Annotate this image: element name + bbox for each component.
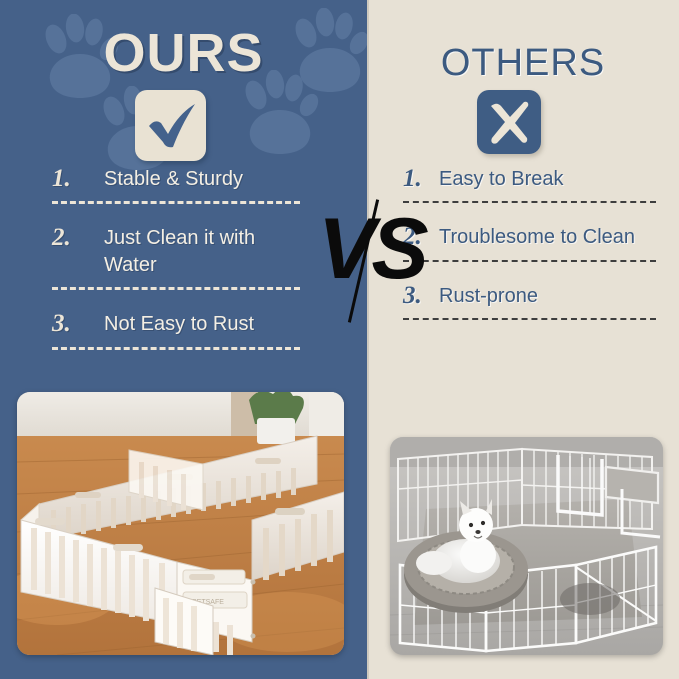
list-item-label: Stable & Sturdy	[104, 166, 243, 192]
list-item: 1. Stable & Sturdy	[52, 166, 302, 204]
ours-product-photo: PETSAFE	[17, 392, 344, 655]
others-product-photo	[390, 437, 663, 655]
list-item-number: 2.	[52, 225, 104, 251]
list-item-label: Troublesome to Clean	[439, 224, 635, 250]
list-item-label: Rust-prone	[439, 283, 538, 309]
list-item-number: 1.	[52, 166, 104, 192]
list-item-label: Not Easy to Rust	[104, 311, 254, 337]
ours-feature-list: 1. Stable & Sturdy 2. Just Clean it with…	[52, 166, 302, 350]
list-item-label: Easy to Break	[439, 166, 564, 192]
list-item-number: 1.	[403, 166, 439, 192]
list-divider	[403, 318, 656, 320]
versus-badge: VS	[318, 206, 418, 316]
panel-divider	[367, 0, 369, 679]
list-item-label: Just Clean it with Water	[104, 225, 302, 278]
others-title: OTHERS	[367, 44, 679, 82]
list-item: 2. Troublesome to Clean	[403, 224, 658, 261]
list-item: 2. Just Clean it with Water	[52, 225, 302, 290]
list-item: 1. Easy to Break	[403, 166, 658, 203]
x-icon	[477, 90, 541, 154]
list-item: 3. Rust-prone	[403, 283, 658, 320]
versus-label: VS	[318, 206, 418, 292]
ours-title: OURS	[0, 26, 367, 80]
list-item-number: 3.	[52, 311, 104, 337]
comparison-infographic: OURS OTHERS 1. Stable & Sturdy 2. Just C…	[0, 0, 679, 679]
check-badge	[135, 90, 206, 161]
others-feature-list: 1. Easy to Break 2. Troublesome to Clean…	[403, 166, 658, 320]
list-item: 3. Not Easy to Rust	[52, 311, 302, 349]
check-icon	[135, 90, 206, 161]
list-divider	[52, 347, 300, 350]
x-badge	[477, 90, 541, 154]
